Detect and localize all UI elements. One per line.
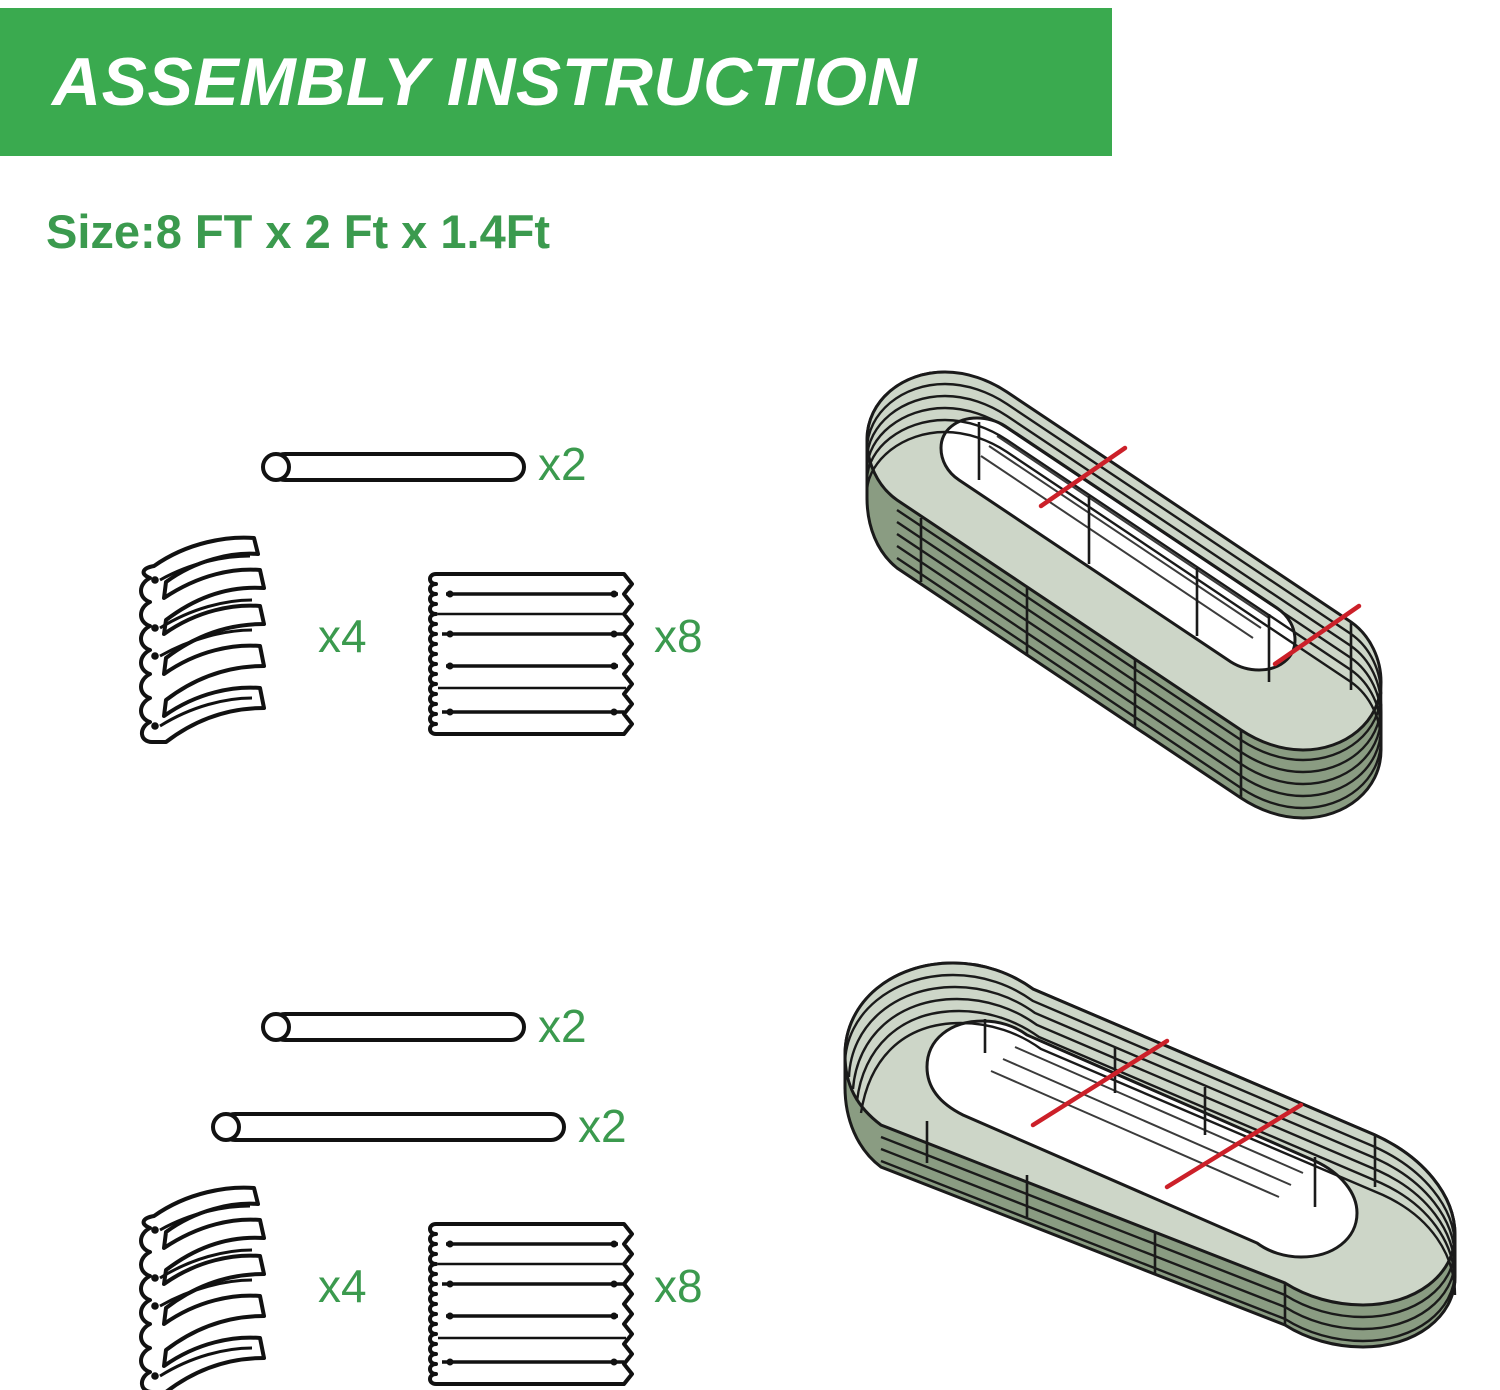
parts-group-lower-svg: x2 x2 x4 x8 [60,990,760,1390]
part-rod-long: x2 [213,1100,627,1152]
header-bar: ASSEMBLY INSTRUCTION [0,8,1112,156]
part-straight-panel: x8 [430,574,703,734]
rod-icon [263,454,524,480]
part-curved-panel-2: x4 [141,1188,367,1390]
part-qty-curved-panel: x4 [318,610,367,662]
part-rod-short-2: x2 [263,1000,587,1052]
product-illustration-narrow [845,330,1500,900]
parts-group-upper-svg: x2 x4 x8 [60,420,760,780]
part-straight-panel-2: x8 [430,1224,703,1384]
product-illustration-wide [815,905,1500,1365]
page-title: ASSEMBLY INSTRUCTION [0,43,917,121]
part-qty-rod-short: x2 [538,438,587,490]
part-qty-curved-panel-2: x4 [318,1260,367,1312]
part-rod-short: x2 [263,438,587,490]
size-specification: Size:8 FT x 2 Ft x 1.4Ft [46,204,550,259]
raised-bed-narrow-svg [845,330,1500,900]
part-qty-straight-panel-2: x8 [654,1260,703,1312]
bed-body-narrow [867,372,1381,818]
straight-panel-icon [430,574,632,734]
parts-group-lower: x2 x2 x4 x8 [60,990,760,1390]
parts-group-upper: x2 x4 x8 [60,420,760,780]
part-qty-straight-panel: x8 [654,610,703,662]
curved-panel-icon [141,1188,264,1390]
curved-panel-icon [141,538,264,742]
part-qty-rod-short-2: x2 [538,1000,587,1052]
raised-bed-wide-svg [815,905,1500,1365]
part-qty-rod-long: x2 [578,1100,627,1152]
straight-panel-icon [430,1224,632,1384]
part-curved-panel: x4 [141,538,367,742]
